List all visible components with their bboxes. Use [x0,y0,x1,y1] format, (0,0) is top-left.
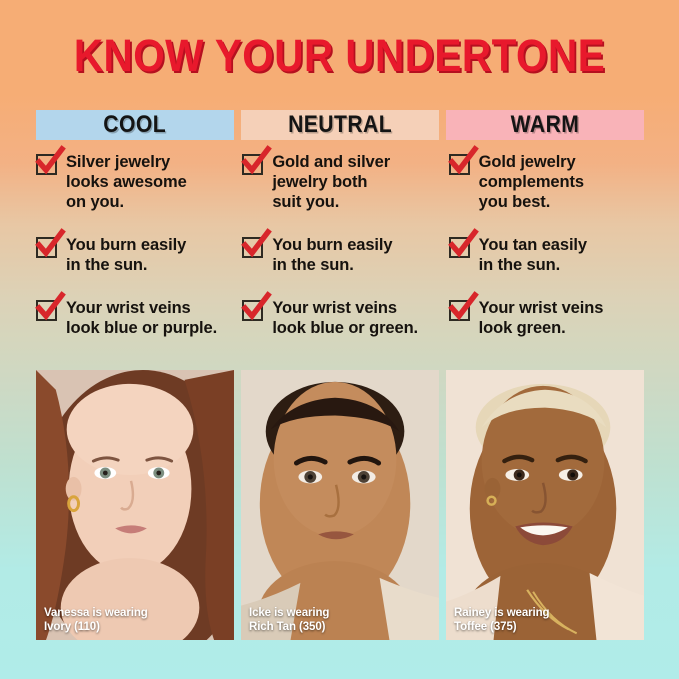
checkbox[interactable] [242,300,263,321]
list-item: Gold jewelry complements you best. [449,152,648,212]
list-item-label: Gold jewelry complements you best. [479,152,584,212]
model-photo-cool: Vanessa is wearing Ivory (110) [36,370,234,643]
check-icon [448,230,478,260]
list-item-label: You burn easily in the sun. [66,235,186,275]
check-icon [241,230,271,260]
checkbox[interactable] [36,300,57,321]
check-icon [35,147,65,177]
check-icon [241,293,271,323]
list-item-label: Your wrist veins look green. [479,298,604,338]
list-item-label: Your wrist veins look blue or green. [272,298,418,338]
portrait-image-warm [446,370,644,640]
list-item: Your wrist veins look green. [449,298,648,338]
list-item-label: Gold and silver jewelry both suit you. [272,152,390,212]
list-item-label: You tan easily in the sun. [479,235,587,275]
list-item: You tan easily in the sun. [449,235,648,275]
checkbox[interactable] [36,237,57,258]
column-header-neutral: NEUTRAL [241,110,439,140]
portrait-image-cool [36,370,234,640]
checkbox[interactable] [242,154,263,175]
check-icon [448,147,478,177]
column-header-neutral-label: NEUTRAL [288,111,392,139]
list-item: Gold and silver jewelry both suit you. [242,152,441,212]
list-item-label: You burn easily in the sun. [272,235,392,275]
checkbox[interactable] [242,237,263,258]
column-header-warm-label: WARM [511,111,580,139]
check-icon [35,230,65,260]
model-photo-strip: Vanessa is wearing Ivory (110) [36,370,644,643]
checklist-column-neutral: Gold and silver jewelry both suit you. Y… [242,152,441,361]
list-item: You burn easily in the sun. [242,235,441,275]
checklist-column-warm: Gold jewelry complements you best. You t… [449,152,648,361]
page-title: KNOW YOUR UNDERTONE [34,32,645,80]
photo-caption-cool: Vanessa is wearing Ivory (110) [44,607,148,634]
portrait-image-neutral [241,370,439,640]
checklist-columns: Silver jewelry looks awesome on you. You… [36,152,648,361]
column-header-cool-label: COOL [104,111,167,139]
list-item: Silver jewelry looks awesome on you. [36,152,235,212]
column-headers: COOL NEUTRAL WARM [36,110,644,140]
column-header-cool: COOL [36,110,234,140]
checkbox[interactable] [449,154,470,175]
checklist-column-cool: Silver jewelry looks awesome on you. You… [36,152,235,361]
list-item: Your wrist veins look blue or green. [242,298,441,338]
list-item-label: Your wrist veins look blue or purple. [66,298,217,338]
list-item: Your wrist veins look blue or purple. [36,298,235,338]
undertone-infographic: KNOW YOUR UNDERTONE COOL NEUTRAL WARM Si… [0,0,679,679]
photo-caption-neutral: Icke is wearing Rich Tan (350) [249,607,329,634]
check-icon [241,147,271,177]
list-item-label: Silver jewelry looks awesome on you. [66,152,187,212]
check-icon [35,293,65,323]
checkbox[interactable] [449,237,470,258]
checkbox[interactable] [449,300,470,321]
photo-caption-warm: Rainey is wearing Toffee (375) [454,607,549,634]
model-photo-neutral: Icke is wearing Rich Tan (350) [241,370,439,643]
list-item: You burn easily in the sun. [36,235,235,275]
model-photo-warm: Rainey is wearing Toffee (375) [446,370,644,643]
check-icon [448,293,478,323]
column-header-warm: WARM [446,110,644,140]
checkbox[interactable] [36,154,57,175]
